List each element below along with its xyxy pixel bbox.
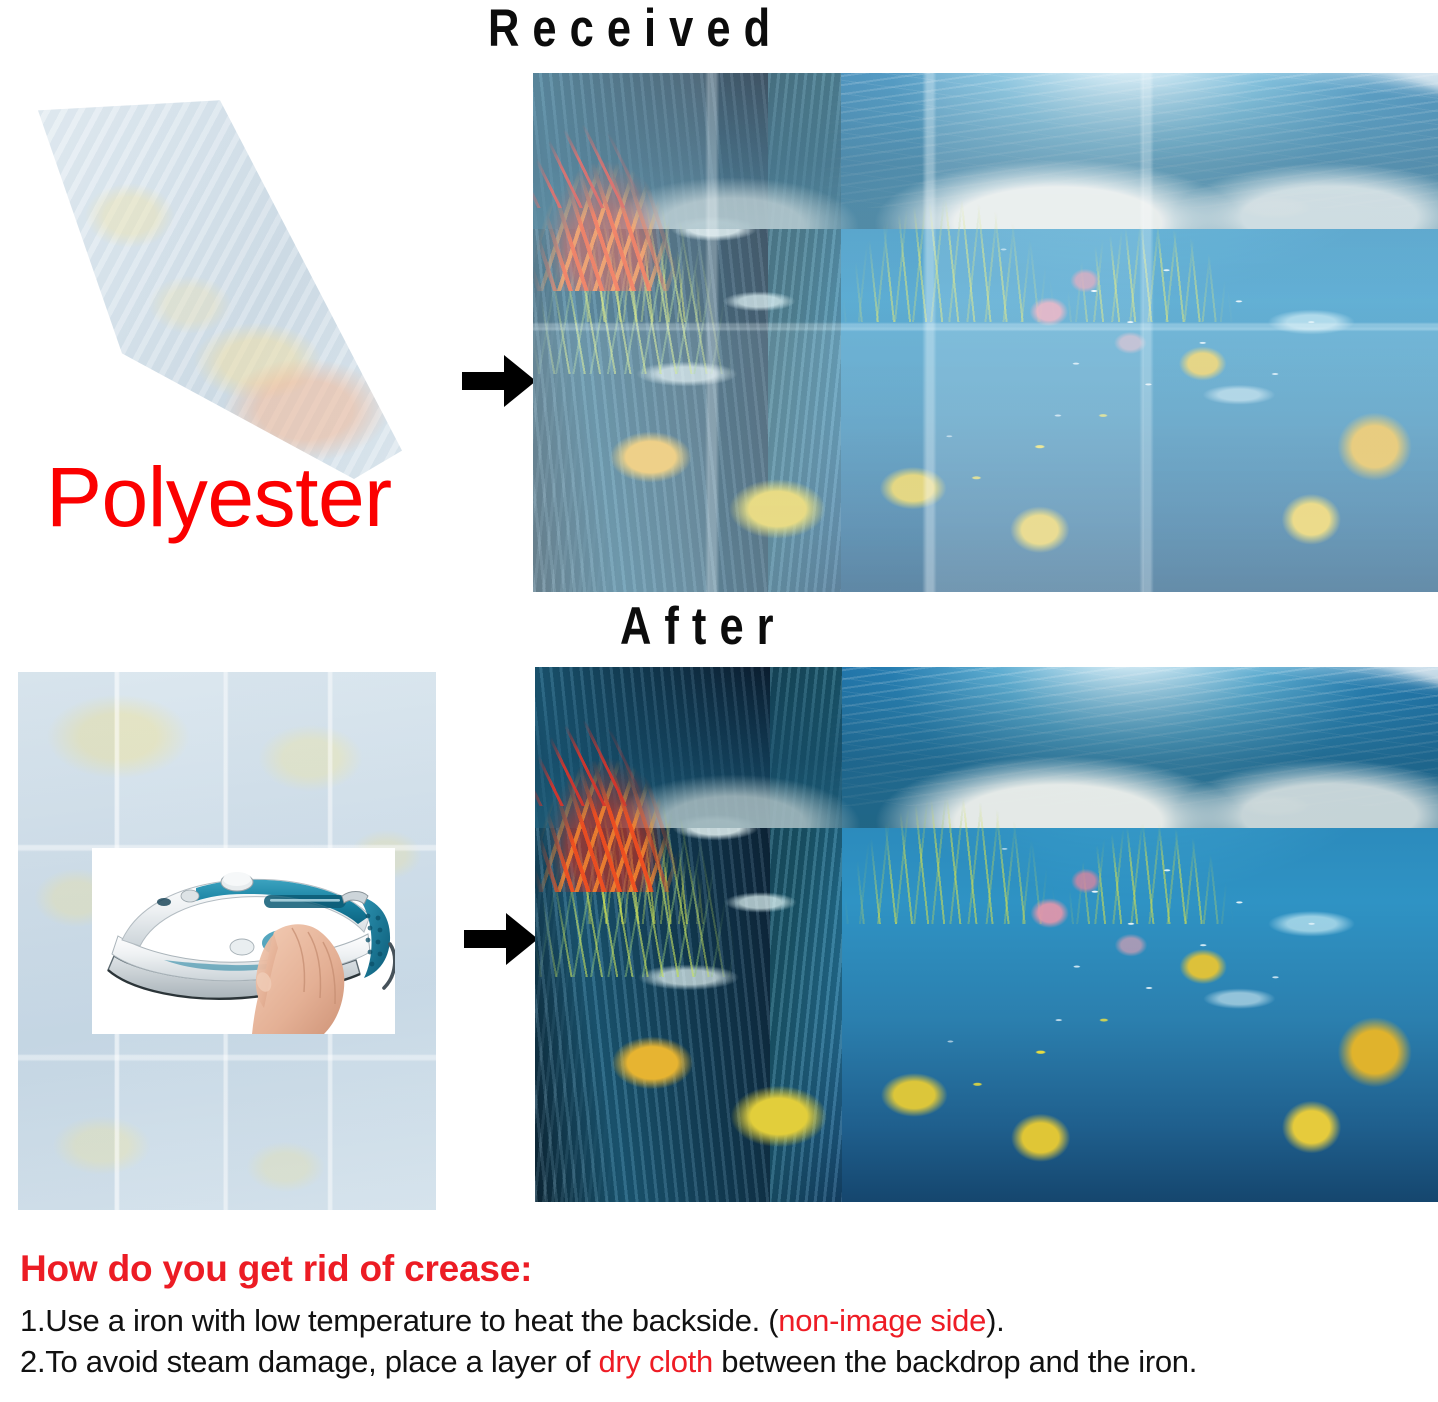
right-arrow-icon-after — [462, 908, 540, 970]
yellow-fish-layer — [533, 73, 1438, 592]
polyester-caption: Polyester — [46, 455, 392, 539]
received-section-label: Received — [488, 2, 783, 55]
right-arrow-icon-received — [460, 350, 538, 412]
folded-polyester-fabric-photo — [10, 78, 410, 483]
received-reef-backdrop-image — [533, 73, 1438, 592]
instruction-line-2-highlight: dry cloth — [598, 1344, 712, 1379]
instructions-heading: How do you get rid of crease: — [20, 1248, 1425, 1289]
instruction-line-2: 2.To avoid steam damage, place a layer o… — [20, 1342, 1425, 1383]
yellow-fish-layer — [535, 667, 1438, 1202]
instruction-line-1-highlight: non-image side — [778, 1303, 986, 1338]
after-section-label: After — [620, 600, 787, 653]
instruction-line-2-after: between the backdrop and the iron. — [713, 1344, 1197, 1379]
instructions-block: How do you get rid of crease: 1.Use a ir… — [20, 1248, 1425, 1383]
steam-iron-photo-card — [92, 848, 395, 1034]
instruction-line-2-before: 2.To avoid steam damage, place a layer o… — [20, 1344, 598, 1379]
instruction-line-1: 1.Use a iron with low temperature to hea… — [20, 1301, 1425, 1342]
instruction-line-1-after: ). — [986, 1303, 1004, 1338]
instruction-line-1-before: 1.Use a iron with low temperature to hea… — [20, 1303, 778, 1338]
after-reef-backdrop-image — [535, 667, 1438, 1202]
